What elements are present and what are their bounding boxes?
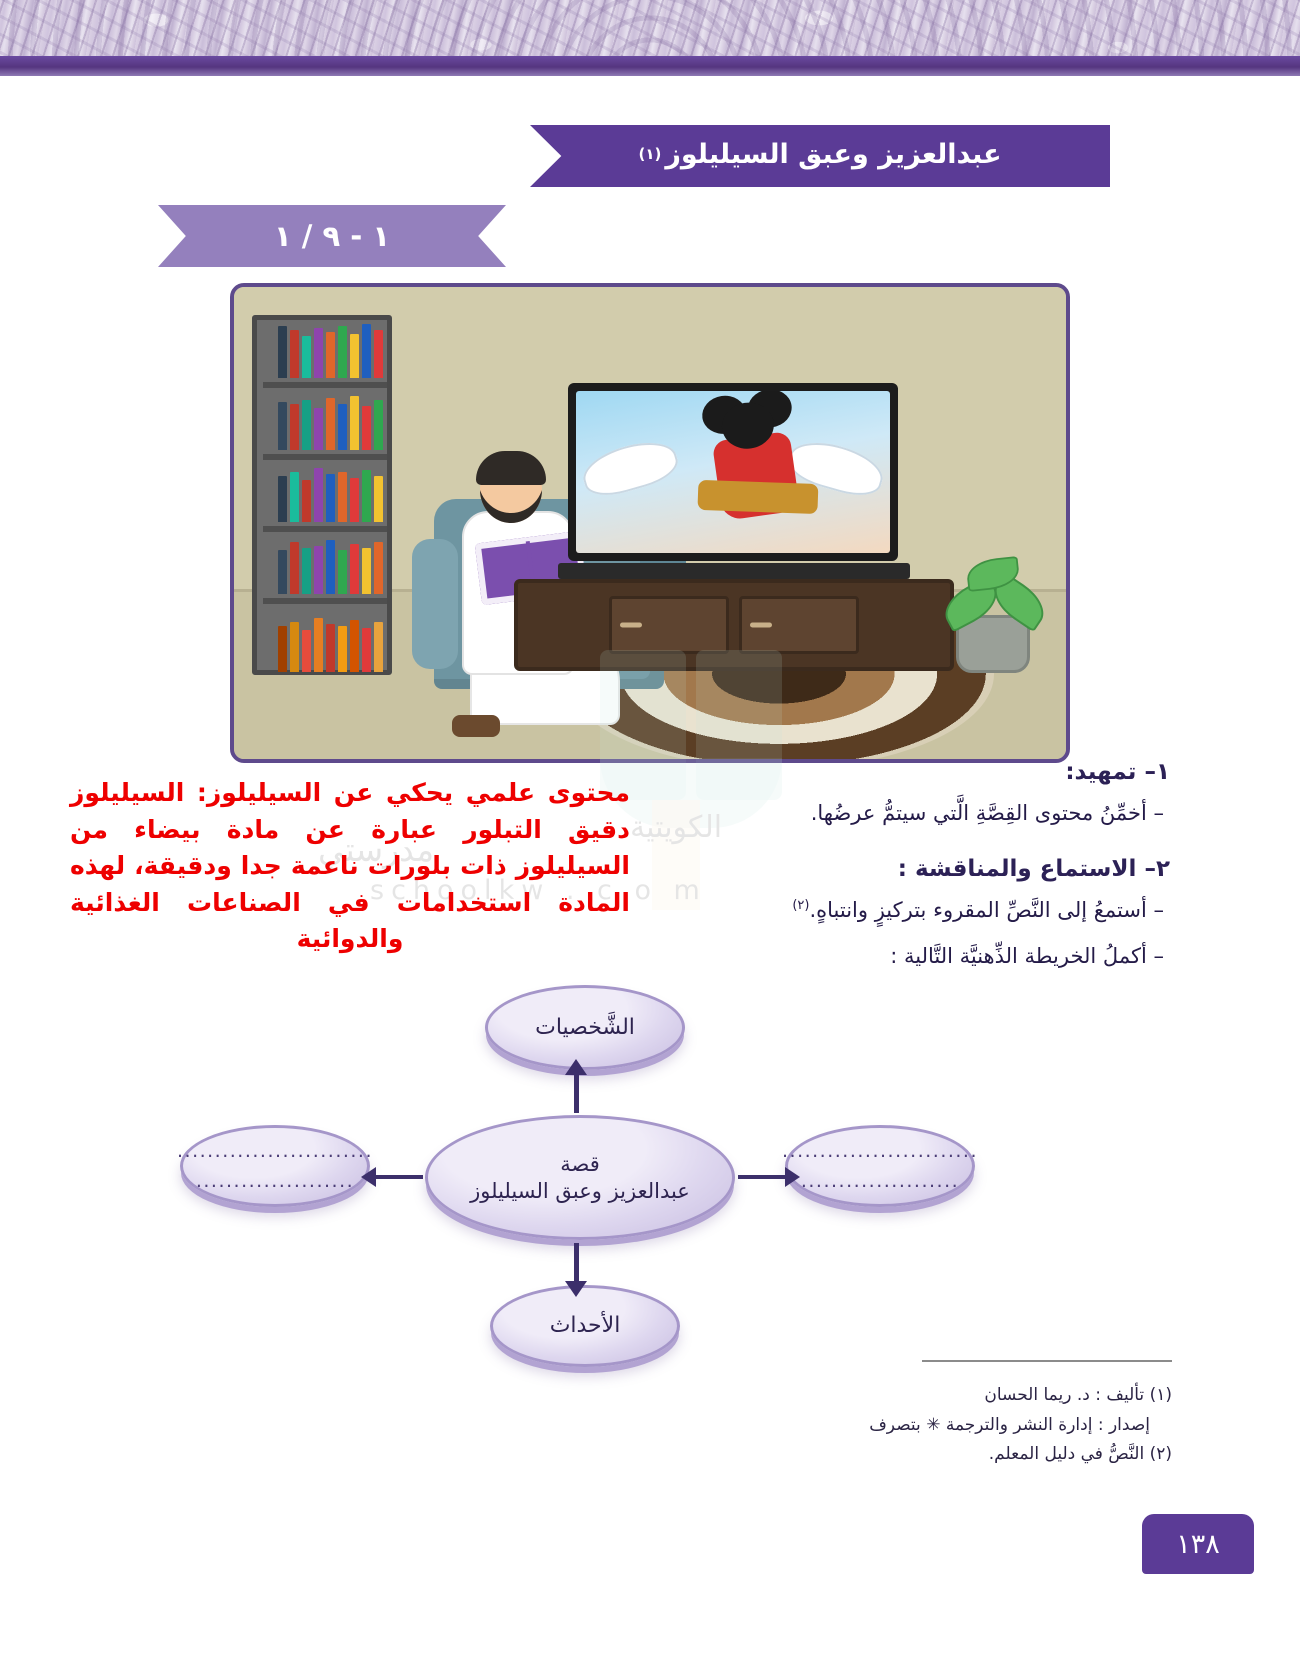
item-text: أستمعُ إلى النَّصِّ المقروء بتركيزٍ وانت…	[809, 898, 1146, 922]
tv-screen	[576, 391, 890, 553]
section-item: – أخمِّنُ محتوى القِصَّةِ الَّتي سيتمُّ …	[650, 798, 1170, 830]
footnote-text: تأليف : د. ريما الحسان	[984, 1385, 1144, 1405]
footnote-text: النَّصُّ في دليل المعلم.	[989, 1444, 1144, 1464]
section-item: – أكملُ الخريطة الذِّهنيَّة التَّالية :	[650, 941, 1170, 973]
red-annotation-note: محتوى علمي يحكي عن السيليلوز: السيليلوز …	[70, 775, 630, 958]
title-footnote-marker: (١)	[638, 145, 661, 163]
footnote-marker: (١)	[1150, 1385, 1172, 1405]
footnote-text: إصدار : إدارة النشر والترجمة ✳ بتصرف	[869, 1415, 1150, 1435]
footnote-separator-rule	[922, 1360, 1172, 1362]
center-line-1: قصة	[560, 1152, 600, 1176]
dots-line-1: ..........................	[782, 1140, 978, 1162]
section-heading-1: ١– تمهيد:	[650, 758, 1170, 788]
mindmap-arrow-up	[574, 1073, 579, 1113]
tv-stand	[558, 563, 910, 579]
lesson-body-text: ١– تمهيد: – أخمِّنُ محتوى القِصَّةِ الَّ…	[650, 758, 1170, 998]
dots-line-1: ..........................	[177, 1140, 373, 1162]
mindmap-arrow-left	[375, 1175, 423, 1179]
footnotes-block: (١) تأليف : د. ريما الحسان إصدار : إدارة…	[742, 1381, 1172, 1470]
section-number-2: ٢	[1156, 856, 1170, 882]
mindmap-left-dots: .......................... .............…	[177, 1136, 373, 1197]
footnote-item: (٢) النَّصُّ في دليل المعلم.	[742, 1440, 1172, 1470]
boy-shoe	[452, 715, 500, 737]
cartoon-wing-left	[578, 434, 682, 503]
header-purple-band	[0, 56, 1300, 76]
item-dash: –	[1154, 801, 1165, 825]
lesson-illustration	[230, 283, 1070, 763]
bookshelf-icon	[252, 315, 392, 675]
mindmap-bubble-left-blank[interactable]: .......................... .............…	[180, 1125, 370, 1207]
mindmap-bubble-right-blank[interactable]: .......................... .............…	[785, 1125, 975, 1207]
item-dash: –	[1154, 944, 1165, 968]
section-number-1: ١	[1156, 759, 1170, 785]
section-title-2: الاستماع والمناقشة :	[898, 856, 1137, 882]
item-text: أكملُ الخريطة الذِّهنيَّة التَّالية :	[890, 944, 1147, 968]
footnote-item: (١) تأليف : د. ريما الحسان	[742, 1381, 1172, 1411]
cabinet-door-right	[609, 596, 729, 654]
mind-map-diagram: الشَّخصيات .......................... ..…	[170, 985, 1010, 1385]
lesson-number-banner: ١ - ٩ / ١	[158, 205, 506, 267]
lesson-title-text: عبدالعزيز وعبق السيليلوز	[665, 139, 1001, 170]
television-icon	[568, 383, 898, 561]
section-heading-2: ٢– الاستماع والمناقشة :	[650, 855, 1170, 885]
mindmap-bubble-center[interactable]: قصة عبدالعزيز وعبق السيليلوز	[425, 1115, 735, 1240]
item-footnote-marker: (٢)	[792, 898, 809, 913]
dots-line-2: .....................	[196, 1170, 354, 1192]
mindmap-bubble-events[interactable]: الأحداث	[490, 1285, 680, 1367]
page-number-badge: ١٣٨	[1142, 1514, 1254, 1574]
cabinet-door-left	[739, 596, 859, 654]
tv-cabinet	[514, 579, 954, 671]
item-dash: –	[1154, 898, 1165, 922]
mindmap-bubble-characters[interactable]: الشَّخصيات	[485, 985, 685, 1070]
footnote-marker: (٢)	[1150, 1444, 1172, 1464]
section-item: – أستمعُ إلى النَّصِّ المقروء بتركيزٍ وا…	[650, 895, 1170, 927]
dots-line-2: .....................	[801, 1170, 959, 1192]
mindmap-right-dots: .......................... .............…	[782, 1136, 978, 1197]
page-number-text: ١٣٨	[1176, 1529, 1220, 1560]
section-title-1: تمهيد:	[1065, 759, 1136, 785]
mindmap-arrow-down	[574, 1243, 579, 1283]
center-line-2: عبدالعزيز وعبق السيليلوز	[470, 1179, 690, 1203]
mindmap-bubble-characters-label: الشَّخصيات	[535, 1014, 635, 1042]
mindmap-bubble-events-label: الأحداث	[550, 1312, 621, 1340]
lesson-number-text: ١ - ٩ / ١	[274, 219, 390, 253]
lesson-title-banner: عبدالعزيز وعبق السيليلوز (١)	[530, 125, 1110, 187]
footnote-item: إصدار : إدارة النشر والترجمة ✳ بتصرف	[742, 1411, 1172, 1441]
mindmap-center-label: قصة عبدالعزيز وعبق السيليلوز	[470, 1151, 690, 1204]
item-text: أخمِّنُ محتوى القِصَّةِ الَّتي سيتمُّ عر…	[811, 801, 1147, 825]
mindmap-arrow-right	[738, 1175, 786, 1179]
cartoon-character	[712, 431, 800, 521]
